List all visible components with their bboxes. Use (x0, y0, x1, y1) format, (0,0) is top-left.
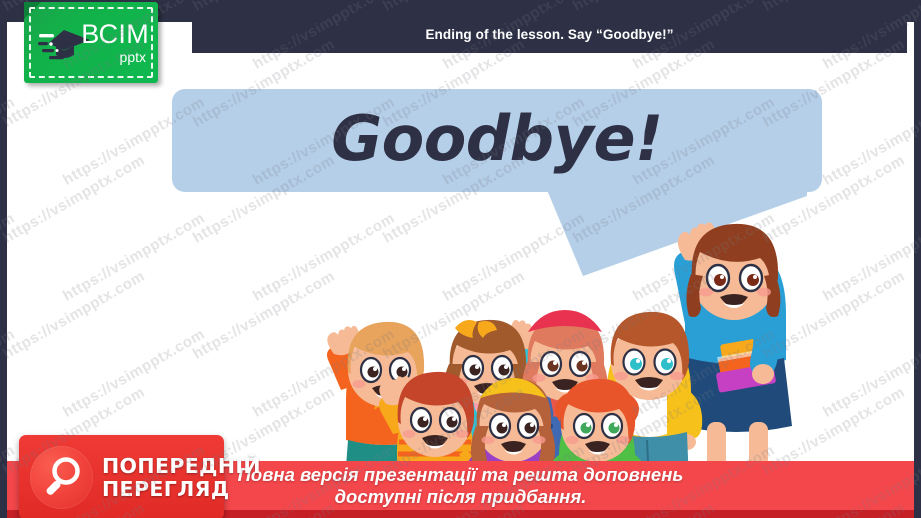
vsimpptx-logo[interactable]: ВСІМ pptx (24, 2, 158, 83)
preview-badge[interactable]: ПОПЕРЕДНІЙ ПЕРЕГЛЯД (19, 435, 224, 518)
magnifier-badge-circle (30, 446, 93, 509)
magnifier-icon (43, 457, 81, 497)
logo-name: ВСІМ (81, 21, 149, 48)
page-title: Ending of the lesson. Say “Goodbye!” (425, 27, 673, 42)
preview-badge-line-2: ПЕРЕГЛЯД (102, 479, 261, 500)
slide-frame: Goodbye! Повна версія презентації та реш… (0, 0, 921, 518)
banner-line-1: Повна версія презентації та решта доповн… (238, 464, 684, 485)
preview-badge-text: ПОПЕРЕДНІЙ ПЕРЕГЛЯД (102, 456, 261, 500)
watermark-text: https://vsimpptx.com (190, 0, 338, 15)
preview-badge-line-1: ПОПЕРЕДНІЙ (102, 456, 261, 477)
watermark-text: https://vsimpptx.com (380, 0, 528, 15)
slide-canvas: Goodbye! Повна версія презентації та реш… (7, 22, 914, 518)
logo-suffix: pptx (81, 50, 149, 64)
watermark-text: https://vsimpptx.com (760, 0, 908, 15)
watermark-text: https://vsimpptx.com (570, 0, 718, 15)
banner-line-2: доступні після придбання. (335, 486, 587, 507)
logo-wordmark: ВСІМ pptx (81, 21, 149, 64)
lesson-title-bar: Ending of the lesson. Say “Goodbye!” (192, 16, 907, 53)
